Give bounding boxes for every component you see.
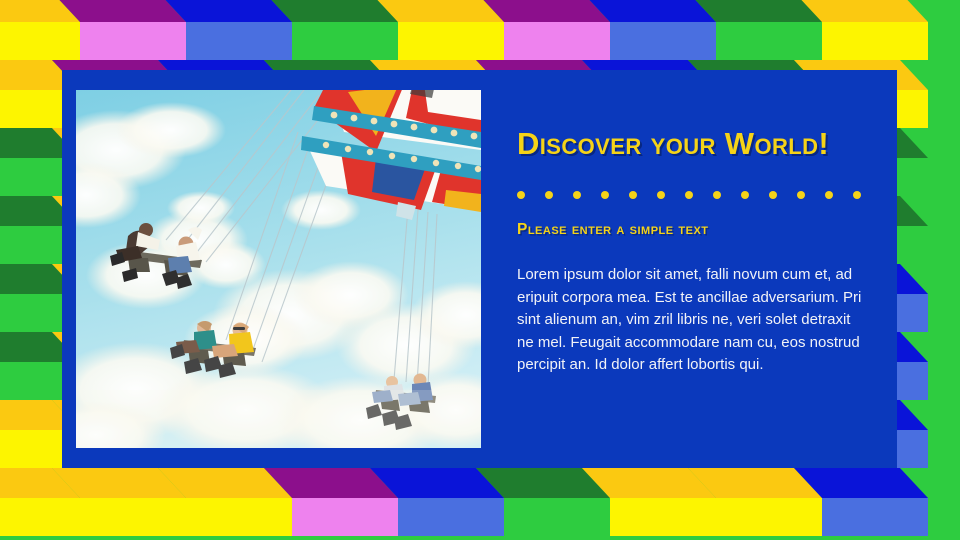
text-column: Discover your World! Please enter a simp… bbox=[517, 125, 872, 392]
divider-dot bbox=[713, 191, 721, 199]
hero-photo[interactable] bbox=[76, 90, 481, 448]
content-card: Discover your World! Please enter a simp… bbox=[62, 70, 897, 468]
body-paragraph: Lorem ipsum dolor sit amet, falli novum … bbox=[517, 264, 865, 377]
divider-dot bbox=[629, 191, 637, 199]
divider-dot bbox=[573, 191, 581, 199]
divider-dot bbox=[657, 191, 665, 199]
slide-canvas: Discover your World! Please enter a simp… bbox=[0, 0, 960, 540]
divider-dot bbox=[685, 191, 693, 199]
background-block-front-face bbox=[822, 498, 928, 536]
hero-photo-illustration bbox=[76, 90, 481, 448]
divider-dot bbox=[517, 191, 525, 199]
background-row bbox=[0, 0, 960, 60]
background-block-front-face bbox=[822, 22, 928, 60]
background-block bbox=[794, 468, 928, 536]
divider-dot bbox=[853, 191, 861, 199]
background-block-top-face bbox=[794, 468, 928, 498]
background-block-top-face bbox=[794, 0, 928, 22]
background-block bbox=[794, 0, 928, 60]
dotted-divider bbox=[517, 191, 861, 199]
divider-dot bbox=[769, 191, 777, 199]
divider-dot bbox=[825, 191, 833, 199]
background-row bbox=[0, 468, 960, 536]
divider-dot bbox=[741, 191, 749, 199]
slide-title: Discover your World! bbox=[517, 125, 872, 163]
slide-subtitle: Please enter a simple text bbox=[517, 221, 872, 239]
divider-dot bbox=[797, 191, 805, 199]
divider-dot bbox=[545, 191, 553, 199]
divider-dot bbox=[601, 191, 609, 199]
